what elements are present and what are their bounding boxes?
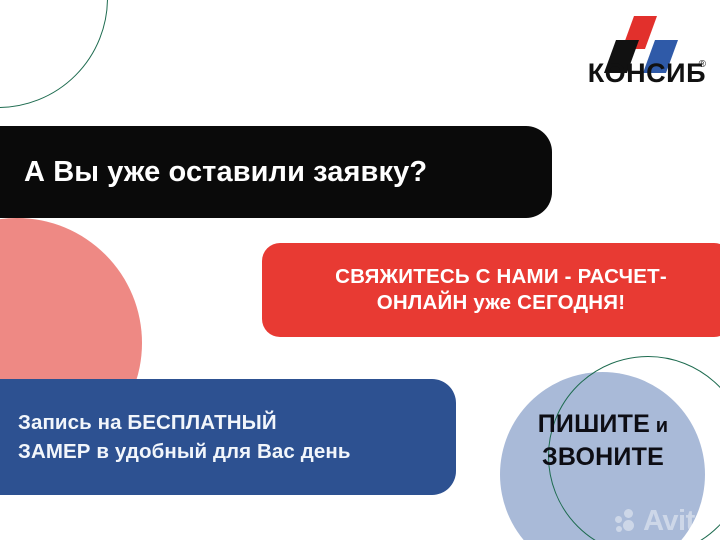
brand-logo: КОНСИБ ® bbox=[570, 16, 706, 100]
decorative-ring-top-left bbox=[0, 0, 108, 108]
free-measure-banner: Запись на БЕСПЛАТНЫЙ ЗАМЕР в удобный для… bbox=[0, 379, 456, 495]
cta-call-label: ЗВОНИТЕ bbox=[542, 443, 664, 471]
contact-text-online: ОНЛАЙН bbox=[377, 291, 474, 314]
contact-text-today: СЕГОДНЯ! bbox=[517, 291, 625, 314]
contact-text: СВЯЖИТЕСЬ С НАМИ - РАСЧЕТ- ОНЛАЙН уже СЕ… bbox=[284, 264, 718, 315]
contact-banner: СВЯЖИТЕСЬ С НАМИ - РАСЧЕТ- ОНЛАЙН уже СЕ… bbox=[262, 243, 720, 337]
contact-text-line1: СВЯЖИТЕСЬ С НАМИ - РАСЧЕТ- bbox=[335, 265, 667, 288]
contact-text-already: уже bbox=[473, 291, 517, 314]
logo-wordmark: КОНСИБ bbox=[570, 60, 706, 87]
headline-text: А Вы уже оставили заявку? bbox=[24, 156, 427, 189]
ad-banner-canvas: КОНСИБ ® А Вы уже оставили заявку? СВЯЖИ… bbox=[0, 0, 720, 540]
cta-write-label: ПИШИТЕ bbox=[538, 410, 650, 438]
free-measure-line2: ЗАМЕР в удобный для Вас день bbox=[18, 440, 351, 463]
free-measure-text: Запись на БЕСПЛАТНЫЙ ЗАМЕР в удобный для… bbox=[18, 408, 351, 466]
cta-conjunction: и bbox=[650, 415, 668, 437]
free-measure-line1: Запись на БЕСПЛАТНЫЙ bbox=[18, 411, 277, 434]
registered-trademark-symbol: ® bbox=[699, 60, 706, 70]
logo-mark bbox=[570, 16, 706, 62]
call-to-action-text: ПИШИТЕ и ЗВОНИТЕ bbox=[497, 408, 709, 473]
headline-banner: А Вы уже оставили заявку? bbox=[0, 126, 552, 218]
